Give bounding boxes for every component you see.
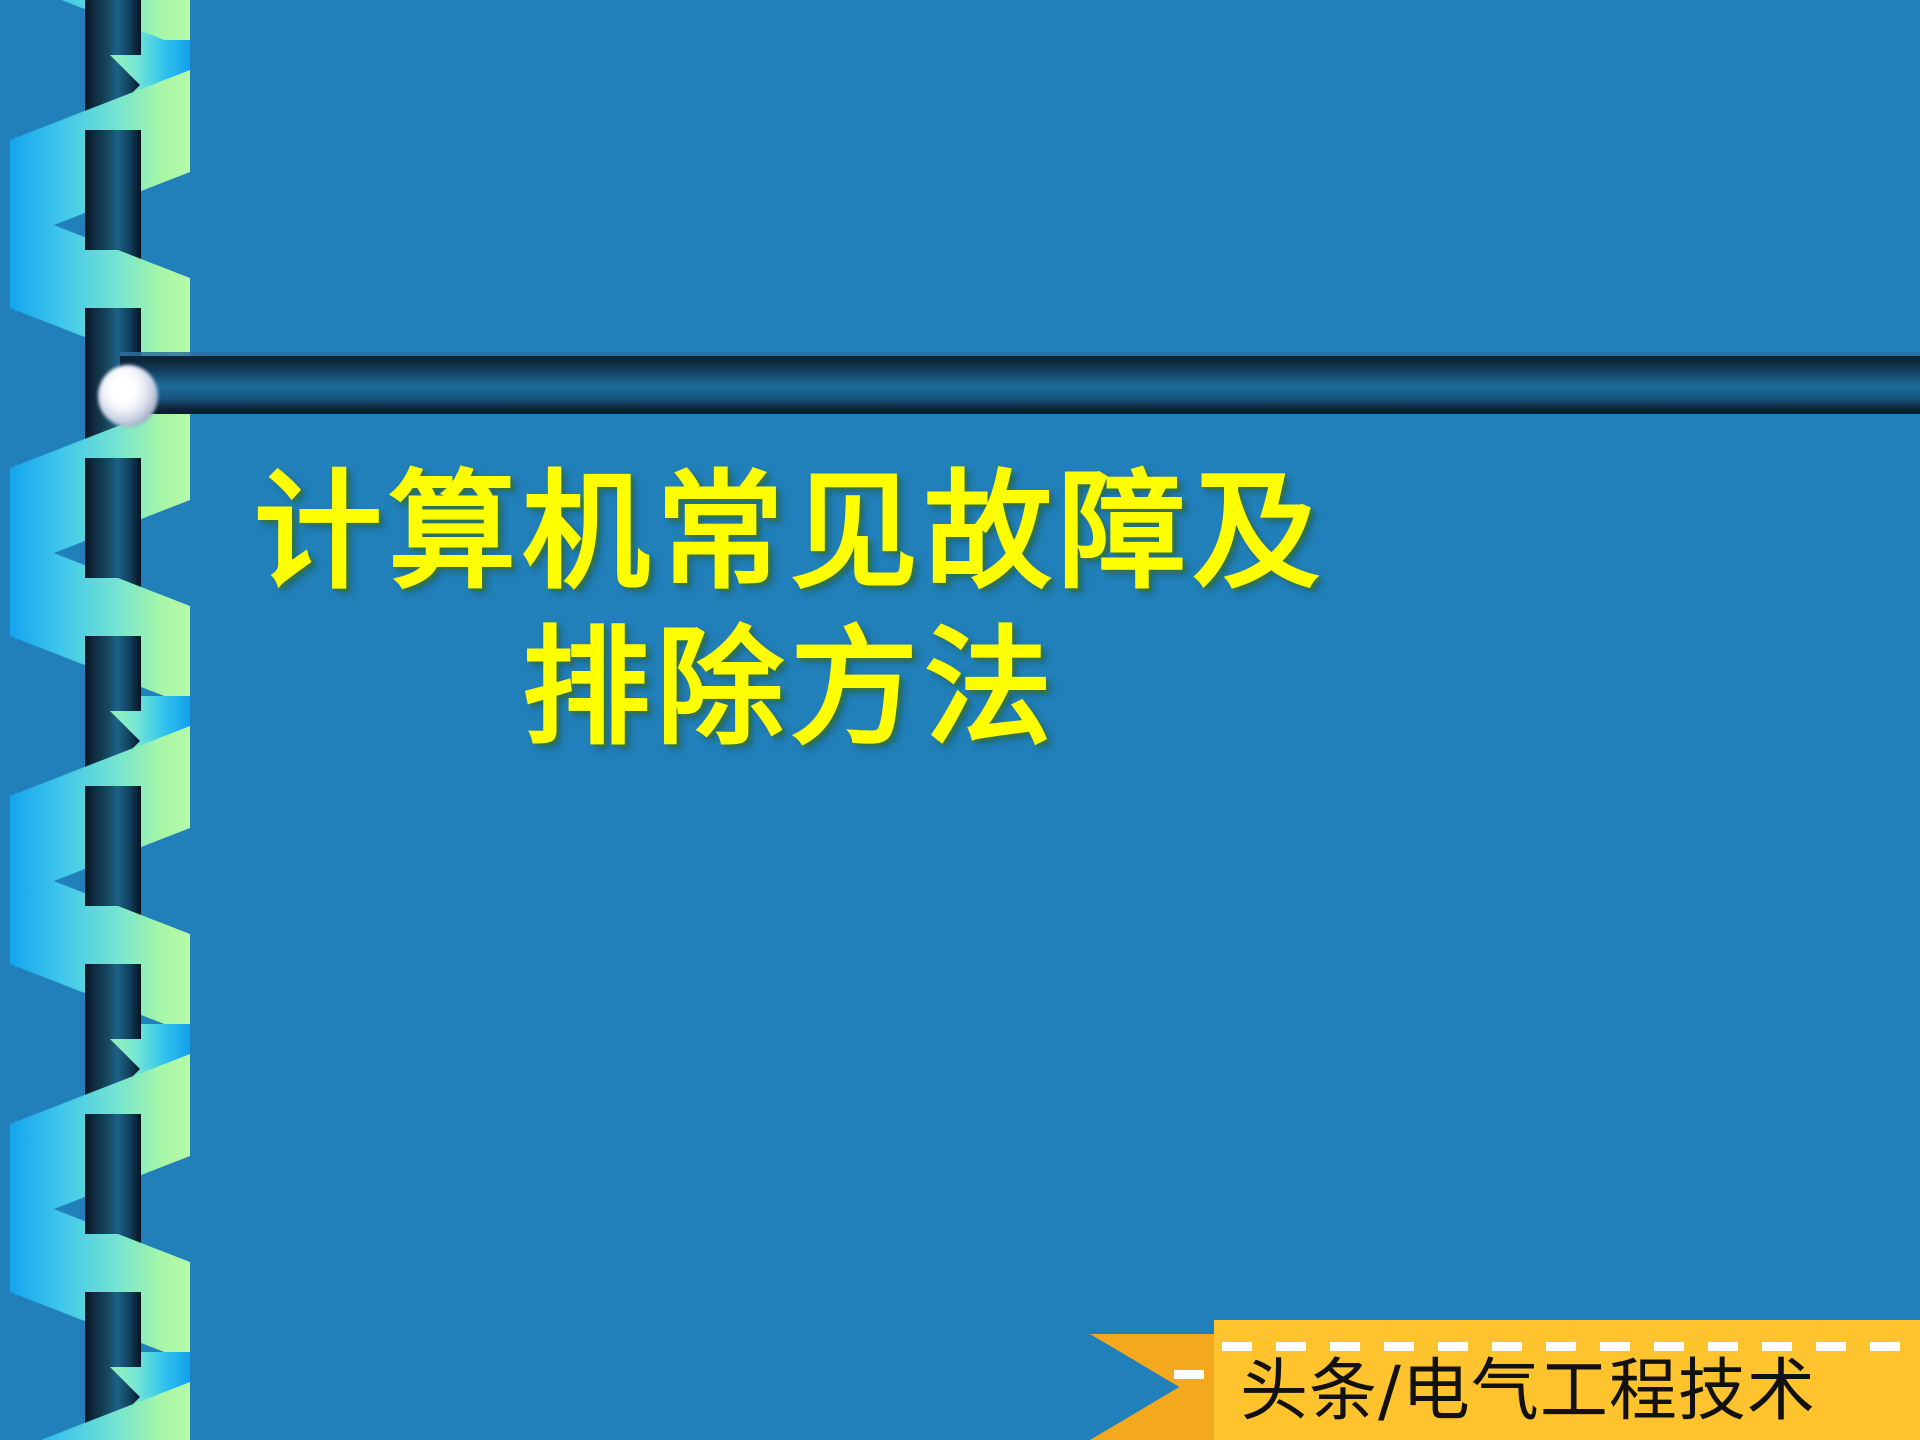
watermark-text: 头条/电气工程技术 [1240,1358,1816,1426]
title-line-2: 排除方法 [0,611,1580,767]
presentation-slide: 计算机常见故障及 排除方法 头条/电气工程技术 [0,0,1920,1440]
watermark-ribbon-banner: 头条/电气工程技术 [1090,1320,1920,1440]
slide-title: 计算机常见故障及 排除方法 [0,455,1580,767]
glow-sphere-icon [98,365,158,427]
title-line-1: 计算机常见故障及 [0,455,1580,611]
horizontal-divider-bar [120,356,1920,414]
ribbon-dashed-line [1222,1342,1910,1351]
